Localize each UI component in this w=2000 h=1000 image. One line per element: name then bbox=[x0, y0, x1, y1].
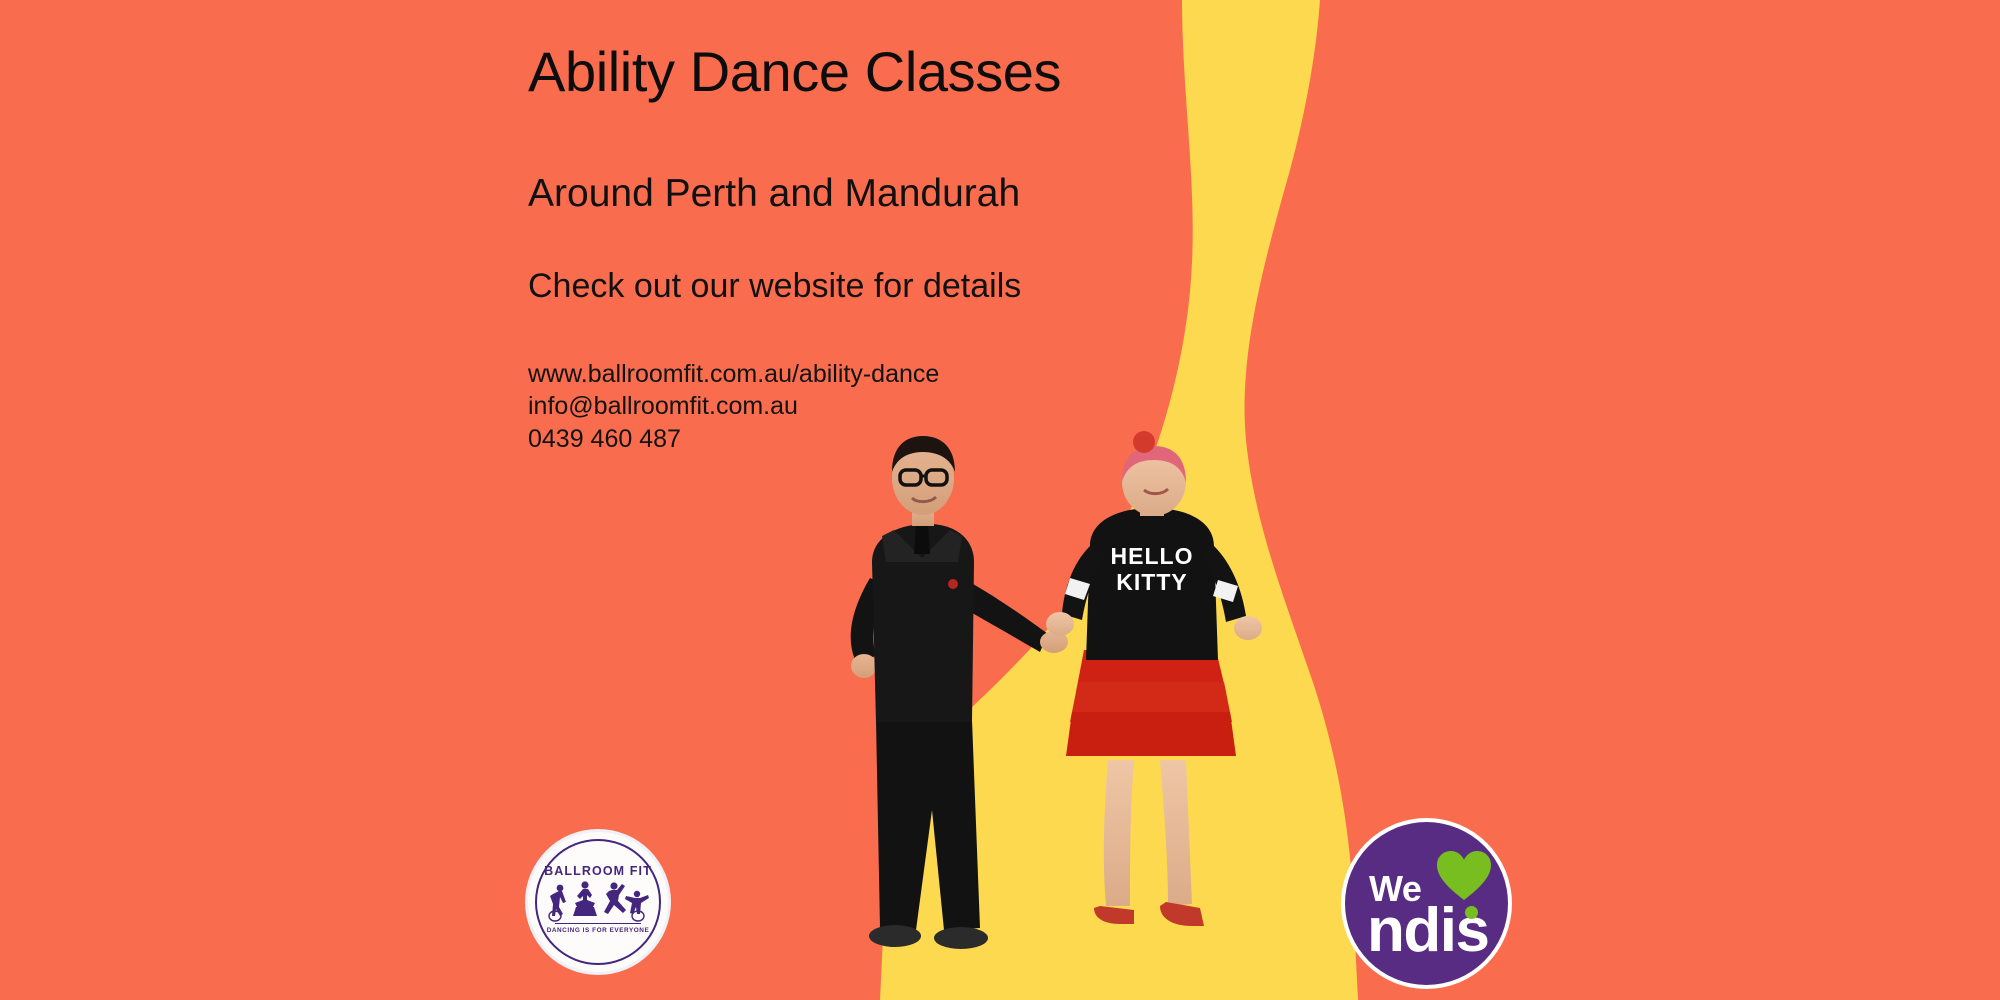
subtitle-locations: Around Perth and Mandurah bbox=[528, 173, 1288, 216]
ballroom-fit-title: BALLROOM FIT bbox=[544, 864, 652, 878]
ballroom-fit-logo[interactable]: BALLROOM FIT DANCING IS FOR EVERYONE bbox=[528, 832, 668, 972]
jumper-text-kitty: KITTY bbox=[1116, 569, 1187, 595]
female-dancer-figure: HELLO KITTY bbox=[1046, 431, 1262, 926]
email-address[interactable]: info@ballroomfit.com.au bbox=[528, 390, 1288, 423]
dancing-figures-icon bbox=[546, 880, 650, 922]
copy-block: Ability Dance Classes Around Perth and M… bbox=[528, 42, 1288, 455]
ballroom-fit-tagline: DANCING IS FOR EVERYONE bbox=[547, 927, 650, 934]
poster-canvas: Ability Dance Classes Around Perth and M… bbox=[0, 0, 2000, 1000]
two-dancers-photo: HELLO KITTY bbox=[820, 430, 1380, 1000]
badge-divider bbox=[555, 923, 641, 925]
ndis-i-dot bbox=[1465, 906, 1478, 919]
male-dancer-figure bbox=[851, 436, 1068, 949]
call-to-action-text: Check out our website for details bbox=[528, 268, 1288, 305]
ndis-logo[interactable]: We ndis bbox=[1345, 822, 1508, 985]
heart-icon bbox=[1435, 850, 1493, 902]
hair-bun-icon bbox=[1133, 431, 1155, 453]
page-title: Ability Dance Classes bbox=[528, 42, 1288, 101]
jumper-text-hello: HELLO bbox=[1111, 543, 1194, 569]
website-url[interactable]: www.ballroomfit.com.au/ability-dance bbox=[528, 358, 1288, 391]
